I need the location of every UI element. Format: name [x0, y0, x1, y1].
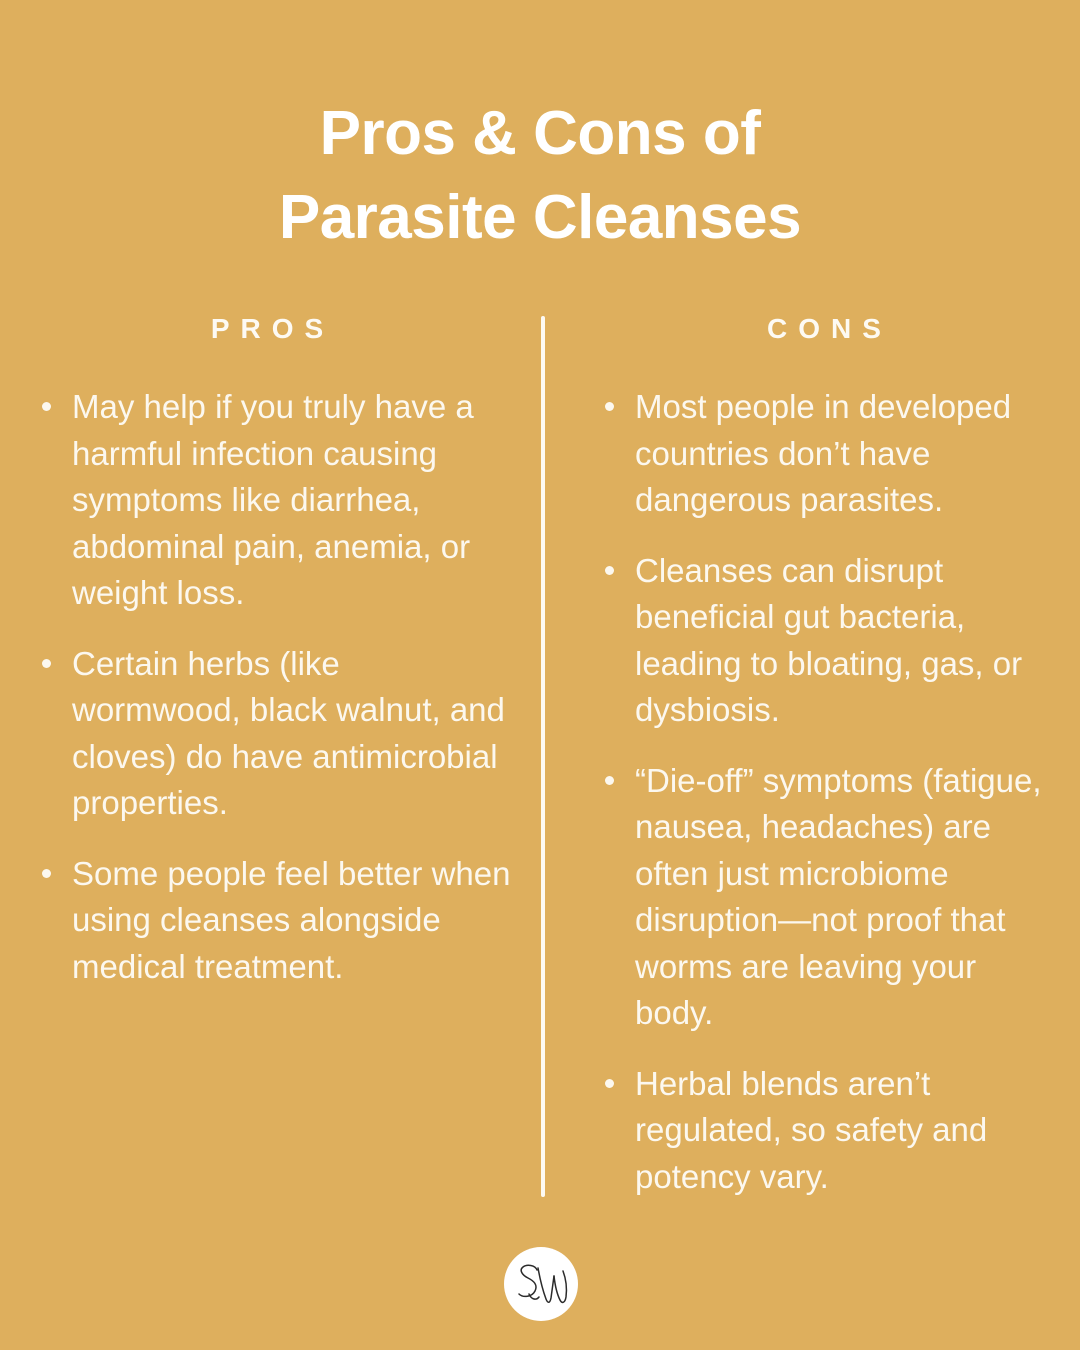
- list-item-text: Some people feel better when using clean…: [72, 855, 510, 985]
- list-item: Herbal blends aren’t regulated, so safet…: [605, 1061, 1062, 1201]
- list-item-text: Herbal blends aren’t regulated, so safet…: [635, 1065, 987, 1195]
- cons-column: CONS Most people in developed countries …: [541, 312, 1080, 1200]
- list-item: May help if you truly have a harmful inf…: [42, 384, 513, 617]
- cons-header: CONS: [605, 312, 1062, 346]
- page-title: Pros & Cons of Parasite Cleanses: [0, 92, 1080, 260]
- bullet-dot-icon: [605, 566, 614, 575]
- bullet-dot-icon: [605, 402, 614, 411]
- bullet-dot-icon: [605, 1079, 614, 1088]
- list-item: Cleanses can disrupt beneficial gut bact…: [605, 548, 1062, 734]
- columns-container: PROS May help if you truly have a harmfu…: [0, 312, 1080, 1200]
- sw-monogram-icon: [504, 1247, 578, 1321]
- title-line-1: Pros & Cons of: [0, 92, 1080, 176]
- bullet-dot-icon: [42, 869, 51, 878]
- pros-list: May help if you truly have a harmful inf…: [42, 384, 513, 990]
- list-item: Some people feel better when using clean…: [42, 851, 513, 991]
- bullet-dot-icon: [42, 402, 51, 411]
- list-item-text: Certain herbs (like wormwood, black waln…: [72, 645, 505, 822]
- list-item-text: May help if you truly have a harmful inf…: [72, 388, 474, 611]
- pros-header: PROS: [42, 312, 513, 346]
- bullet-dot-icon: [42, 659, 51, 668]
- cons-list: Most people in developed countries don’t…: [605, 384, 1062, 1200]
- bullet-dot-icon: [605, 776, 614, 785]
- list-item: Certain herbs (like wormwood, black waln…: [42, 641, 513, 827]
- list-item-text: Cleanses can disrupt beneficial gut bact…: [635, 552, 1022, 729]
- list-item-text: “Die-off” symptoms (fatigue, nausea, hea…: [635, 762, 1042, 1032]
- list-item-text: Most people in developed countries don’t…: [635, 388, 1011, 518]
- pros-column: PROS May help if you truly have a harmfu…: [0, 312, 541, 990]
- infographic-canvas: Pros & Cons of Parasite Cleanses PROS Ma…: [0, 0, 1080, 1350]
- list-item: “Die-off” symptoms (fatigue, nausea, hea…: [605, 758, 1062, 1037]
- title-line-2: Parasite Cleanses: [0, 176, 1080, 260]
- list-item: Most people in developed countries don’t…: [605, 384, 1062, 524]
